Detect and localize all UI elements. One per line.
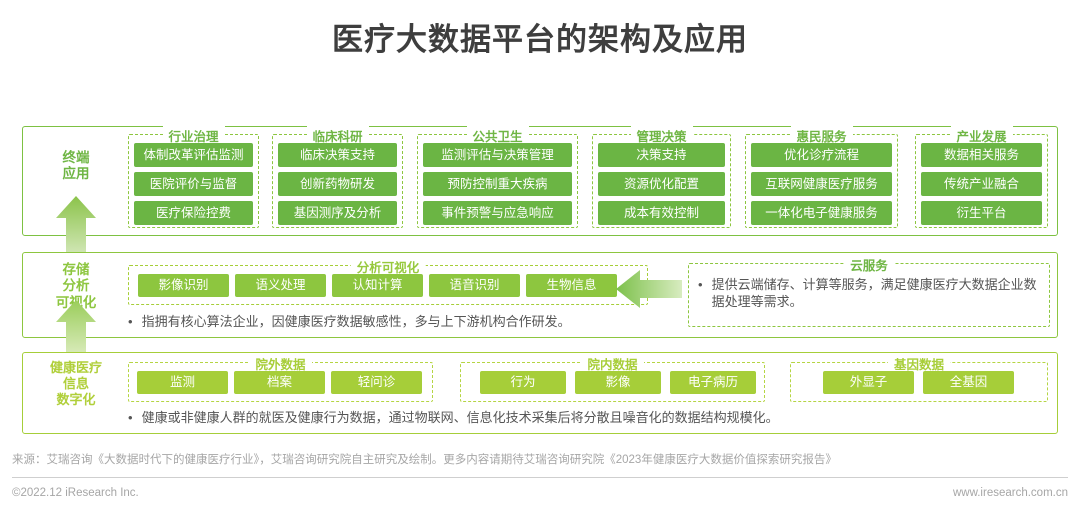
chip-data-3-2[interactable]: 全基因 [923, 371, 1014, 394]
chip-data-1-3[interactable]: 轻问诊 [331, 371, 422, 394]
chip-analysis-3[interactable]: 认知计算 [332, 274, 423, 297]
source-note: 来源：艾瑞咨询《大数据时代下的健康医疗行业》，艾瑞咨询研究院自主研究及绘制。更多… [12, 451, 1068, 467]
note-text: 健康或非健康人群的就医及健康行为数据，通过物联网、信息化技术采集后将分散且噪音化… [142, 409, 779, 426]
chip-app-6-3[interactable]: 衍生平台 [921, 201, 1042, 225]
bullet-icon: • [698, 276, 703, 310]
rail-label-digitization: 健康医疗 信息 数字化 [24, 360, 128, 408]
chip-app-4-3[interactable]: 成本有效控制 [598, 201, 725, 225]
chip-data-2-3[interactable]: 电子病历 [670, 371, 756, 394]
chip-data-3-1[interactable]: 外显子 [823, 371, 914, 394]
chip-app-5-1[interactable]: 优化诊疗流程 [751, 143, 892, 167]
rail-label-applications: 终端 应用 [30, 150, 122, 183]
copyright-text: ©2022.12 iResearch Inc. [12, 487, 139, 499]
chip-app-1-3[interactable]: 医疗保险控费 [134, 201, 253, 225]
chip-app-4-2[interactable]: 资源优化配置 [598, 172, 725, 196]
chip-app-4-1[interactable]: 决策支持 [598, 143, 725, 167]
chip-app-2-2[interactable]: 创新药物研发 [278, 172, 397, 196]
group-title: 云服务 [844, 255, 894, 274]
chip-analysis-5[interactable]: 生物信息 [526, 274, 617, 297]
note-analysis: • 指拥有核心算法企业，因健康医疗数据敏感性，多与上下游机构合作研发。 [128, 313, 638, 330]
chip-app-6-2[interactable]: 传统产业融合 [921, 172, 1042, 196]
bullet-icon: • [128, 313, 133, 330]
left-arrow-icon [616, 268, 682, 310]
chip-app-3-1[interactable]: 监测评估与决策管理 [423, 143, 572, 167]
chip-app-6-1[interactable]: 数据相关服务 [921, 143, 1042, 167]
note-cloud-service: • 提供云端储存、计算等服务，满足健康医疗大数据企业数据处理等需求。 [698, 276, 1042, 310]
chip-data-2-2[interactable]: 影像 [575, 371, 661, 394]
chip-data-1-1[interactable]: 监测 [137, 371, 228, 394]
chip-analysis-2[interactable]: 语义处理 [235, 274, 326, 297]
website-url: www.iresearch.com.cn [953, 487, 1068, 499]
note-text: 提供云端储存、计算等服务，满足健康医疗大数据企业数据处理等需求。 [712, 276, 1042, 310]
page-title: 医疗大数据平台的架构及应用 [0, 14, 1080, 59]
chip-app-2-3[interactable]: 基因测序及分析 [278, 201, 397, 225]
note-text: 指拥有核心算法企业，因健康医疗数据敏感性，多与上下游机构合作研发。 [142, 313, 571, 330]
chip-analysis-4[interactable]: 语音识别 [429, 274, 520, 297]
bullet-icon: • [128, 409, 133, 426]
chip-analysis-1[interactable]: 影像识别 [138, 274, 229, 297]
chip-app-2-1[interactable]: 临床决策支持 [278, 143, 397, 167]
chip-data-2-1[interactable]: 行为 [480, 371, 566, 394]
chip-app-5-3[interactable]: 一体化电子健康服务 [751, 201, 892, 225]
chip-app-1-2[interactable]: 医院评价与监督 [134, 172, 253, 196]
infographic-page: 医疗大数据平台的架构及应用 终端 应用 行业治理 体制改革评估监测 医院评价与监… [0, 0, 1080, 520]
up-arrow-icon-applications [56, 196, 96, 258]
chip-data-1-2[interactable]: 档案 [234, 371, 325, 394]
note-digitization: • 健康或非健康人群的就医及健康行为数据，通过物联网、信息化技术采集后将分散且噪… [128, 409, 1038, 426]
chip-app-3-3[interactable]: 事件预警与应急响应 [423, 201, 572, 225]
footer-divider [12, 477, 1068, 478]
chip-app-1-1[interactable]: 体制改革评估监测 [134, 143, 253, 167]
chip-app-3-2[interactable]: 预防控制重大疾病 [423, 172, 572, 196]
chip-app-5-2[interactable]: 互联网健康医疗服务 [751, 172, 892, 196]
